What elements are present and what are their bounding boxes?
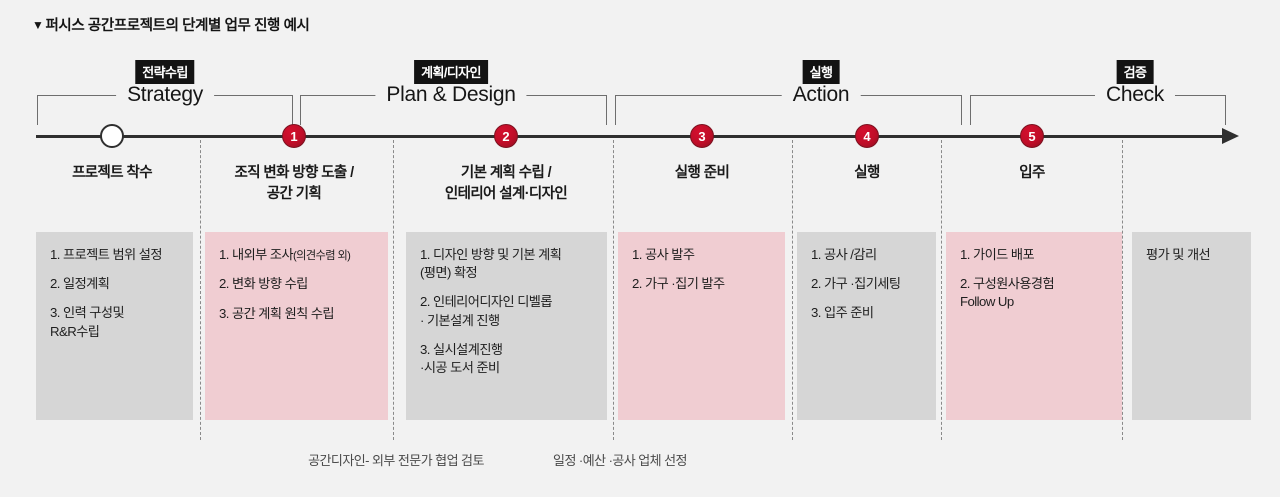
task-item: 2. 일정계획 [50, 275, 181, 293]
stage-task-box-review: 평가 및 개선 [1132, 232, 1251, 420]
task-item-note: (의견수렴 외) [293, 250, 350, 262]
phase-label-en: Plan & Design [375, 83, 526, 107]
task-item-text: 3. 인력 구성및 R&R수립 [50, 305, 124, 338]
task-item: 2. 가구 ·집기세팅 [811, 275, 924, 293]
task-item-text: 2. 변화 방향 수립 [219, 276, 308, 291]
stage-heading-kickoff: 프로젝트 착수 [72, 163, 152, 184]
stage-heading-org-change: 조직 변화 방향 도출 / 공간 기획 [234, 163, 353, 204]
timeline-arrow-icon [1222, 128, 1239, 144]
task-item-text: 2. 가구 ·집기 발주 [632, 276, 725, 291]
milestone-node-3[interactable]: 3 [690, 124, 714, 148]
phase-badge-ko: 실행 [803, 60, 840, 84]
task-item: 1. 내외부 조사(의견수렴 외) [219, 246, 376, 264]
stage-task-box-execution: 1. 공사 /감리2. 가구 ·집기세팅3. 입주 준비 [797, 232, 936, 420]
milestone-node-4[interactable]: 4 [855, 124, 879, 148]
stage-heading-basic-plan: 기본 계획 수립 / 인테리어 설계·디자인 [445, 163, 567, 204]
triangle-marker-icon: ▼ [32, 18, 43, 32]
phase-badge-ko: 전략수립 [135, 60, 194, 84]
task-item: 2. 구성원사용경험 Follow Up [960, 275, 1110, 311]
task-item: 3. 인력 구성및 R&R수립 [50, 304, 181, 340]
task-item: 1. 공사 /감리 [811, 246, 924, 264]
task-item-text: 평가 및 개선 [1146, 247, 1210, 262]
task-item: 2. 변화 방향 수립 [219, 275, 376, 293]
task-item: 3. 입주 준비 [811, 304, 924, 322]
stage-heading-move-in: 입주 [1019, 163, 1044, 184]
phase-badge-ko: 계획/디자인 [414, 60, 488, 84]
task-item: 3. 실시설계진행 ·시공 도서 준비 [420, 341, 595, 377]
page-title-text: 퍼시스 공간프로젝트의 단계별 업무 진행 예시 [45, 18, 309, 34]
task-item-text: 2. 인테리어디자인 디벨롭 · 기본설계 진행 [420, 294, 552, 327]
task-item-text: 2. 일정계획 [50, 276, 109, 291]
stage-task-box-exec-prep: 1. 공사 발주2. 가구 ·집기 발주 [618, 232, 785, 420]
dashed-divider-2 [613, 140, 614, 440]
task-item-text: 1. 가이드 배포 [960, 247, 1034, 262]
stage-task-box-basic-plan: 1. 디자인 방향 및 기본 계획 (평면) 확정2. 인테리어디자인 디벨롭 … [406, 232, 607, 420]
phase-badge-ko: 검증 [1117, 60, 1154, 84]
phase-label-en: Check [1095, 83, 1175, 107]
task-item: 1. 가이드 배포 [960, 246, 1110, 264]
phase-label-en: Action [782, 83, 861, 107]
page-title: ▼퍼시스 공간프로젝트의 단계별 업무 진행 예시 [32, 14, 310, 35]
task-item: 1. 프로젝트 범위 설정 [50, 246, 181, 264]
dashed-divider-3 [792, 140, 793, 440]
milestone-node-5[interactable]: 5 [1020, 124, 1044, 148]
task-item: 2. 인테리어디자인 디벨롭 · 기본설계 진행 [420, 293, 595, 329]
phase-label-en: Strategy [116, 83, 214, 107]
task-item-text: 1. 공사 발주 [632, 247, 694, 262]
dashed-divider-0 [200, 140, 201, 440]
task-item-text: 1. 내외부 조사 [219, 247, 293, 262]
task-item-text: 3. 실시설계진행 ·시공 도서 준비 [420, 342, 503, 375]
stage-task-box-move-in: 1. 가이드 배포2. 구성원사용경험 Follow Up [946, 232, 1122, 420]
task-item-text: 1. 프로젝트 범위 설정 [50, 247, 162, 262]
stage-heading-exec-prep: 실행 준비 [675, 163, 729, 184]
task-item-text: 3. 입주 준비 [811, 305, 873, 320]
dashed-divider-5 [1122, 140, 1123, 440]
dashed-divider-1 [393, 140, 394, 440]
task-item: 3. 공간 계획 원칙 수립 [219, 305, 376, 323]
task-item: 1. 디자인 방향 및 기본 계획 (평면) 확정 [420, 246, 595, 282]
dashed-divider-4 [941, 140, 942, 440]
task-item: 1. 공사 발주 [632, 246, 773, 264]
task-item: 평가 및 개선 [1146, 246, 1239, 264]
stage-task-box-org-change: 1. 내외부 조사(의견수렴 외)2. 변화 방향 수립3. 공간 계획 원칙 … [205, 232, 388, 420]
task-item-text: 1. 공사 /감리 [811, 247, 877, 262]
milestone-node-2[interactable]: 2 [494, 124, 518, 148]
stage-task-box-kickoff: 1. 프로젝트 범위 설정2. 일정계획3. 인력 구성및 R&R수립 [36, 232, 193, 420]
milestone-node-1[interactable]: 1 [282, 124, 306, 148]
footnote-1: 일정 ·예산 ·공사 업체 선정 [553, 450, 687, 469]
timeline-axis [36, 135, 1226, 138]
footnote-0: 공간디자인- 외부 전문가 협업 검토 [308, 450, 484, 469]
stage-heading-execution: 실행 [854, 163, 879, 184]
task-item-text: 3. 공간 계획 원칙 수립 [219, 306, 334, 321]
task-item: 2. 가구 ·집기 발주 [632, 275, 773, 293]
task-item-text: 2. 구성원사용경험 Follow Up [960, 276, 1054, 309]
task-item-text: 2. 가구 ·집기세팅 [811, 276, 900, 291]
infographic-canvas: ▼퍼시스 공간프로젝트의 단계별 업무 진행 예시 Strategy전략수립Pl… [0, 0, 1280, 497]
task-item-text: 1. 디자인 방향 및 기본 계획 (평면) 확정 [420, 247, 561, 280]
milestone-node-start[interactable] [100, 124, 124, 148]
